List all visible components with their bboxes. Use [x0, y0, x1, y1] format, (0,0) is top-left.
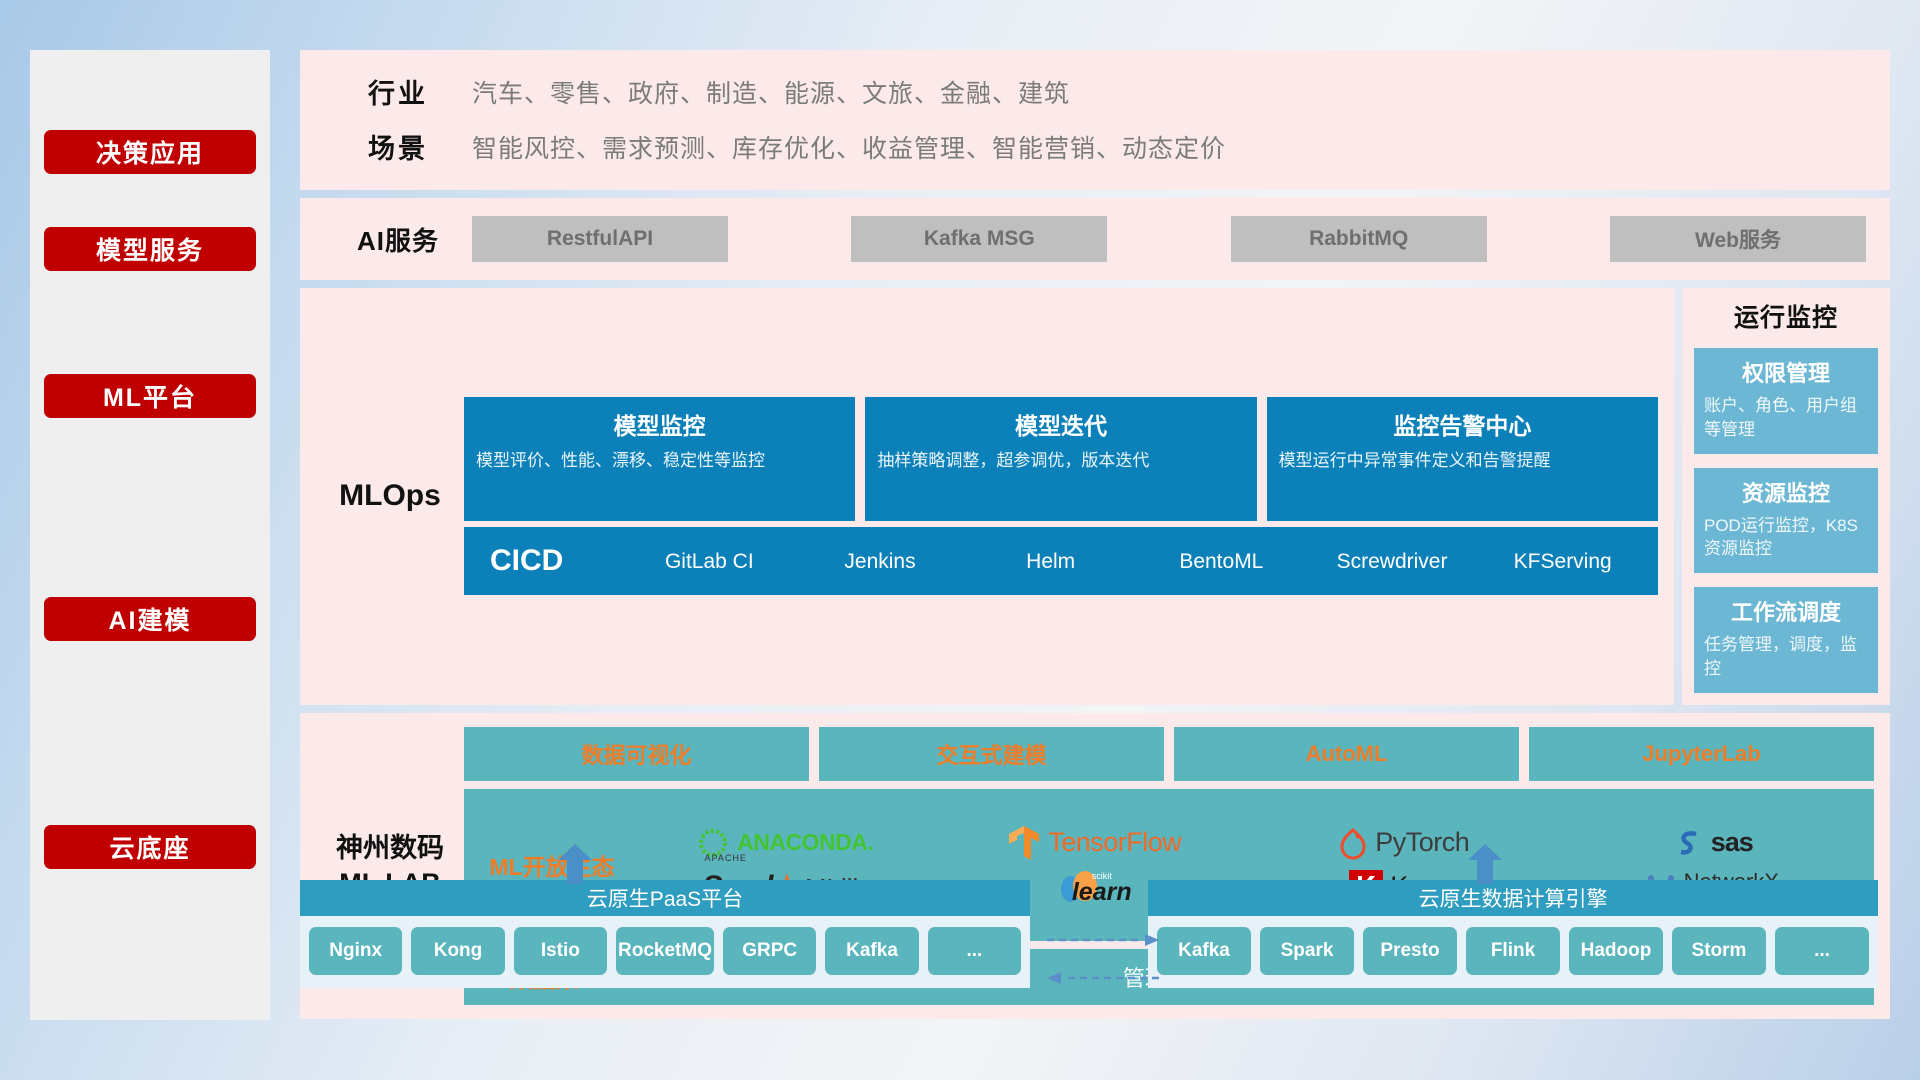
cloud-paas-panel: 云原生PaaS平台 Nginx Kong Istio RocketMQ GRPC… — [300, 880, 1030, 988]
mlops-card-title: 模型监控 — [476, 407, 843, 441]
monitor-card-title: 权限管理 — [1704, 356, 1868, 388]
learn-text: learn — [1072, 881, 1132, 904]
arrow-right-icon — [1145, 934, 1159, 946]
data-chip-presto[interactable]: Presto — [1363, 927, 1457, 975]
data-chip-storm[interactable]: Storm — [1672, 927, 1766, 975]
monitor-card-title: 资源监控 — [1704, 476, 1868, 508]
rail-item-model-service[interactable]: 模型服务 — [44, 227, 256, 271]
ml-lab-label-line1: 神州数码 — [316, 831, 464, 866]
bidirectional-link-arrows — [1045, 928, 1161, 990]
rail-item-cloud-base[interactable]: 云底座 — [44, 825, 256, 869]
scenario-label: 场景 — [324, 127, 472, 166]
runtime-monitor-band: 运行监控 权限管理 账户、角色、用户组等管理 资源监控 POD运行监控，K8S资… — [1682, 288, 1890, 705]
mlops-card-title: 监控告警中心 — [1279, 407, 1646, 441]
ml-ecosystem-label: ML开放生态 — [472, 848, 632, 882]
monitor-card-title: 工作流调度 — [1704, 595, 1868, 627]
lab-tab-automl[interactable]: AutoML — [1174, 727, 1519, 781]
ai-service-chip-list: RestfulAPI Kafka MSG RabbitMQ Web服务 — [472, 216, 1866, 262]
anaconda-logo-text: ANACONDA. — [737, 829, 873, 856]
mlops-card-desc: 抽样策略调整，超参调优，版本迭代 — [877, 449, 1244, 473]
lab-tab-list: 数据可视化 交互式建模 AutoML JupyterLab — [464, 727, 1874, 781]
scenario-values: 智能风控、需求预测、库存优化、收益管理、智能营销、动态定价 — [472, 129, 1226, 165]
sas-logo: sas — [1674, 827, 1753, 858]
cicd-item-jenkins[interactable]: Jenkins — [795, 551, 966, 572]
scenario-row: 场景 智能风控、需求预测、库存优化、收益管理、智能营销、动态定价 — [324, 127, 1866, 166]
data-chip-hadoop[interactable]: Hadoop — [1569, 927, 1663, 975]
industry-values: 汽车、零售、政府、制造、能源、文旅、金融、建筑 — [472, 74, 1070, 110]
monitor-card-desc: POD运行监控，K8S资源监控 — [1704, 514, 1868, 562]
cloud-data-engine-title: 云原生数据计算引擎 — [1148, 880, 1878, 916]
ml-platform-row: MLOps 模型监控 模型评价、性能、漂移、稳定性等监控 模型迭代 抽样策略调整… — [300, 288, 1890, 705]
cloud-chip-rocketmq[interactable]: RocketMQ — [616, 927, 714, 975]
spark-apache-text: APACHE — [704, 853, 746, 863]
ai-service-chip-restfulapi[interactable]: RestfulAPI — [472, 216, 728, 262]
ai-service-label: AI服务 — [324, 221, 472, 258]
cloud-chip-istio[interactable]: Istio — [514, 927, 607, 975]
arrow-left-icon — [1047, 972, 1061, 984]
industry-label: 行业 — [324, 72, 472, 111]
mlops-band: MLOps 模型监控 模型评价、性能、漂移、稳定性等监控 模型迭代 抽样策略调整… — [300, 288, 1674, 705]
rail-item-decision-apps[interactable]: 决策应用 — [44, 130, 256, 174]
sas-logo-text: sas — [1711, 827, 1753, 858]
lab-tab-interactive-modeling[interactable]: 交互式建模 — [819, 727, 1164, 781]
paas-up-arrow-icon — [558, 844, 592, 884]
cloud-data-chip-list: Kafka Spark Presto Flink Hadoop Storm ..… — [1148, 916, 1878, 988]
stack-layer-rail: 决策应用 模型服务 ML平台 AI建模 云底座 — [30, 50, 270, 1020]
cicd-item-screwdriver[interactable]: Screwdriver — [1307, 551, 1478, 572]
industry-row: 行业 汽车、零售、政府、制造、能源、文旅、金融、建筑 — [324, 72, 1866, 111]
cicd-item-list: GitLab CI Jenkins Helm BentoML Screwdriv… — [624, 551, 1648, 572]
mlops-card-desc: 模型评价、性能、漂移、稳定性等监控 — [476, 449, 843, 473]
mlops-card-model-monitoring[interactable]: 模型监控 模型评价、性能、漂移、稳定性等监控 — [464, 397, 855, 521]
ai-service-chip-kafka-msg[interactable]: Kafka MSG — [851, 216, 1107, 262]
pytorch-logo-text: PyTorch — [1375, 827, 1469, 858]
cloud-chip-kafka[interactable]: Kafka — [825, 927, 918, 975]
cicd-item-gitlab-ci[interactable]: GitLab CI — [624, 551, 795, 572]
cloud-chip-more[interactable]: ... — [928, 927, 1021, 975]
lab-tab-jupyterlab[interactable]: JupyterLab — [1529, 727, 1874, 781]
cloud-paas-title: 云原生PaaS平台 — [300, 880, 1030, 916]
mlops-label: MLOps — [316, 479, 464, 513]
pytorch-logo: PyTorch — [1338, 826, 1469, 860]
decision-apps-band: 行业 汽车、零售、政府、制造、能源、文旅、金融、建筑 场景 智能风控、需求预测、… — [300, 50, 1890, 190]
monitor-card-resource[interactable]: 资源监控 POD运行监控，K8S资源监控 — [1694, 468, 1878, 574]
monitor-card-permission[interactable]: 权限管理 账户、角色、用户组等管理 — [1694, 348, 1878, 454]
tensorflow-logo: TensorFlow — [1007, 824, 1181, 862]
cloud-chip-kong[interactable]: Kong — [411, 927, 504, 975]
cicd-item-kfserving[interactable]: KFServing — [1477, 551, 1648, 572]
mlops-card-title: 模型迭代 — [877, 407, 1244, 441]
monitor-card-desc: 任务管理，调度，监控 — [1704, 633, 1868, 681]
architecture-main: 行业 汽车、零售、政府、制造、能源、文旅、金融、建筑 场景 智能风控、需求预测、… — [300, 50, 1890, 1019]
pytorch-icon — [1338, 826, 1368, 860]
cicd-bar: CICD GitLab CI Jenkins Helm BentoML Scre… — [464, 527, 1658, 595]
cloud-data-engine-panel: 云原生数据计算引擎 Kafka Spark Presto Flink Hadoo… — [1148, 880, 1878, 988]
cloud-chip-nginx[interactable]: Nginx — [309, 927, 402, 975]
cloud-paas-chip-list: Nginx Kong Istio RocketMQ GRPC Kafka ... — [300, 916, 1030, 988]
sas-icon — [1674, 828, 1704, 858]
cicd-item-helm[interactable]: Helm — [965, 551, 1136, 572]
mlops-card-desc: 模型运行中异常事件定义和告警提醒 — [1279, 449, 1646, 473]
cicd-item-bentoml[interactable]: BentoML — [1136, 551, 1307, 572]
mlops-card-list: 模型监控 模型评价、性能、漂移、稳定性等监控 模型迭代 抽样策略调整，超参调优，… — [464, 397, 1658, 521]
data-chip-kafka[interactable]: Kafka — [1157, 927, 1251, 975]
monitor-card-workflow[interactable]: 工作流调度 任务管理，调度，监控 — [1694, 587, 1878, 693]
mlops-card-alert-center[interactable]: 监控告警中心 模型运行中异常事件定义和告警提醒 — [1267, 397, 1658, 521]
data-chip-flink[interactable]: Flink — [1466, 927, 1560, 975]
rail-item-ml-platform[interactable]: ML平台 — [44, 374, 256, 418]
ai-service-chip-rabbitmq[interactable]: RabbitMQ — [1231, 216, 1487, 262]
cloud-chip-grpc[interactable]: GRPC — [723, 927, 816, 975]
rail-item-ai-modeling[interactable]: AI建模 — [44, 597, 256, 641]
ai-service-band: AI服务 RestfulAPI Kafka MSG RabbitMQ Web服务 — [300, 198, 1890, 280]
data-chip-spark[interactable]: Spark — [1260, 927, 1354, 975]
cicd-label: CICD — [474, 544, 624, 578]
tensorflow-logo-text: TensorFlow — [1048, 827, 1181, 858]
data-chip-more[interactable]: ... — [1775, 927, 1869, 975]
lab-tab-data-visualization[interactable]: 数据可视化 — [464, 727, 809, 781]
ai-service-chip-web-service[interactable]: Web服务 — [1610, 216, 1866, 262]
data-engine-up-arrow-icon — [1468, 844, 1502, 884]
tensorflow-icon — [1007, 824, 1041, 862]
monitor-card-desc: 账户、角色、用户组等管理 — [1704, 394, 1868, 442]
runtime-monitor-title: 运行监控 — [1694, 298, 1878, 334]
mlops-card-model-iteration[interactable]: 模型迭代 抽样策略调整，超参调优，版本迭代 — [865, 397, 1256, 521]
